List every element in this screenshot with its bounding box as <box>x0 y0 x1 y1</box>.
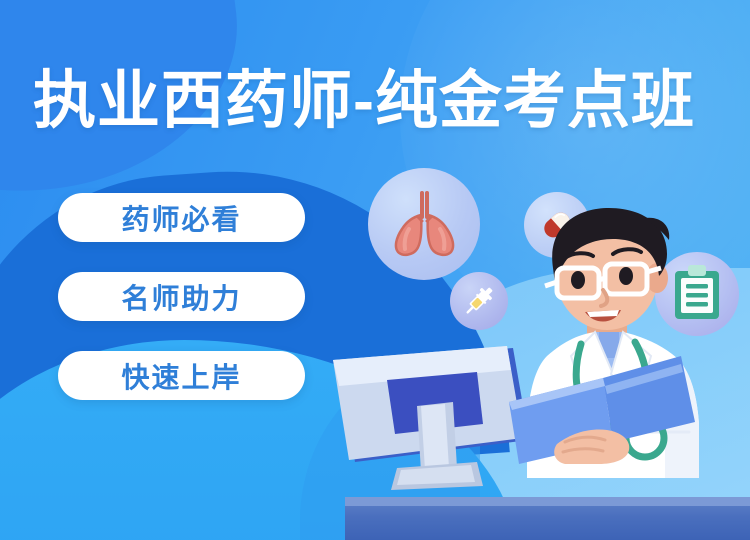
syringe-icon <box>459 281 499 321</box>
lungs-icon-bubble <box>368 168 480 280</box>
feature-pill-1[interactable]: 药师必看 <box>58 193 305 242</box>
feature-pill-3[interactable]: 快速上岸 <box>58 351 305 400</box>
feature-pill-3-label: 快速上岸 <box>121 356 241 396</box>
promotional-banner: 执业西药师-纯金考点班 药师必看 名师助力 快速上岸 <box>0 0 750 540</box>
lungs-icon <box>385 187 463 261</box>
feature-pill-2[interactable]: 名师助力 <box>58 272 305 321</box>
doctor-illustration <box>495 206 750 506</box>
feature-pill-list: 药师必看 名师助力 快速上岸 <box>58 193 305 400</box>
feature-pill-1-label: 药师必看 <box>121 198 241 238</box>
feature-pill-2-label: 名师助力 <box>121 277 241 317</box>
banner-headline: 执业西药师-纯金考点班 <box>33 62 723 140</box>
desk-surface-highlight <box>345 497 750 506</box>
